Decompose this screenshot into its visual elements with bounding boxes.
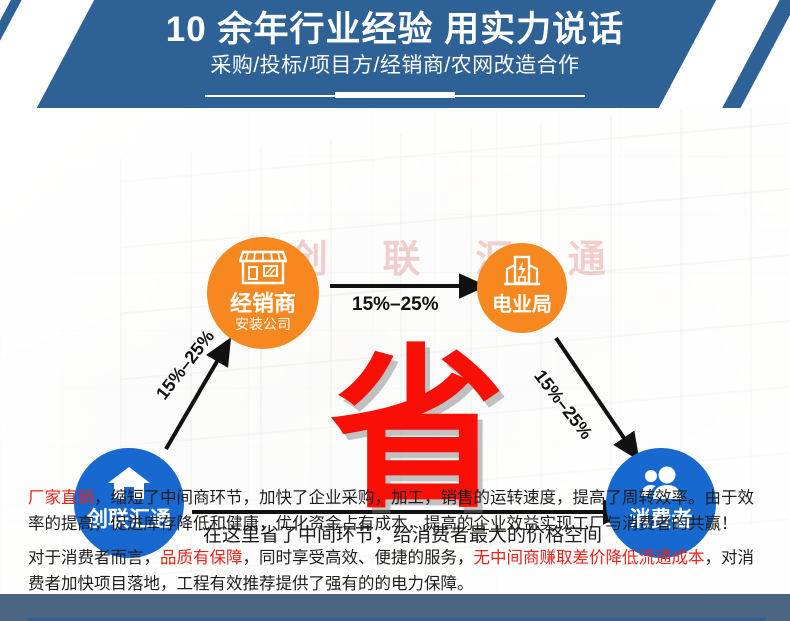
- footer-bar: [0, 594, 790, 621]
- node-bureau[interactable]: 电业局: [477, 243, 567, 333]
- node-dealer-sublabel: 安装公司: [207, 316, 319, 333]
- node-bureau-label: 电业局: [477, 294, 567, 316]
- header-subtitle: 采购/投标/项目方/经销商/农网改造合作: [0, 51, 790, 80]
- paragraph-one-highlight: 厂家直销: [28, 489, 94, 507]
- paragraph-two-part-2: ，同时享受高效、便捷的服务，: [243, 549, 474, 567]
- paragraph-two-highlight-2: 无中间商赚取差价降低流通成本: [474, 549, 705, 567]
- paragraph-two: 对于消费者而言，品质有保障，同时享受高效、便捷的服务，无中间商赚取差价降低流通成…: [28, 545, 768, 597]
- arrow-label-dealer-to-bureau: 15%–25%: [352, 294, 439, 316]
- paragraph-two-highlight-1: 品质有保障: [160, 549, 243, 567]
- paragraph-two-part-1: 对于消费者而言，: [28, 549, 160, 567]
- header-rule-accent: [335, 92, 455, 98]
- paragraph-one: 厂家直销，缩短了中间商环节，加快了企业采购，加工，销售的运转速度，提高了周转效率…: [28, 485, 768, 537]
- header-title: 10 余年行业经验 用实力说话: [0, 0, 790, 51]
- page-header: 10 余年行业经验 用实力说话 采购/投标/项目方/经销商/农网改造合作: [0, 0, 790, 108]
- node-dealer[interactable]: 经销商 安装公司: [207, 237, 319, 349]
- diagram-stage: 创 联 汇 通 省 15%–25% 15%–25% 15%–25% 在这里省了中…: [0, 108, 790, 621]
- shop-icon: [207, 249, 319, 290]
- power-building-icon: [477, 255, 567, 292]
- node-dealer-label: 经销商: [207, 292, 319, 316]
- paragraph-one-body: ，缩短了中间商环节，加快了企业采购，加工，销售的运转速度，提高了周转效率。由于效…: [28, 489, 754, 533]
- page-root: 10 余年行业经验 用实力说话 采购/投标/项目方/经销商/农网改造合作 创 联…: [0, 0, 790, 621]
